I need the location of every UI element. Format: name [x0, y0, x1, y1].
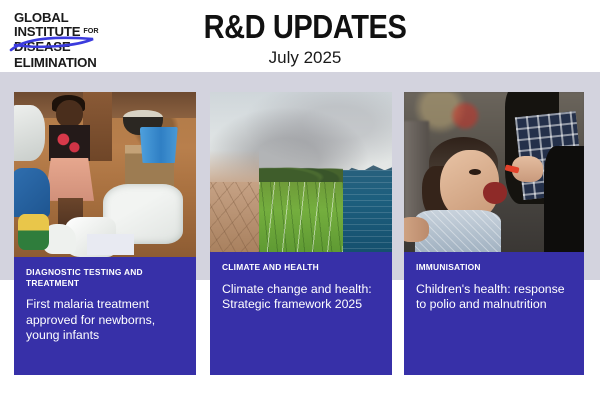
newsletter-slide: GLOBAL INSTITUTE FOR DISEASE ELIMINATION… — [0, 0, 600, 400]
card-grid: DIAGNOSTIC TESTING AND TREATMENT First m… — [0, 0, 600, 400]
story-headline[interactable]: First malaria treatment approved for new… — [26, 297, 184, 344]
story-headline[interactable]: Climate change and health: Strategic fra… — [222, 282, 380, 313]
story-card-climate-and-health[interactable]: CLIMATE AND HEALTH Climate change and he… — [210, 92, 392, 375]
story-card-immunisation[interactable]: IMMUNISATION Children's health: response… — [404, 92, 584, 375]
photo-blue-garment — [14, 168, 50, 218]
photo-blue-bucket — [140, 127, 178, 163]
story-headline[interactable]: Children's health: response to polio and… — [416, 282, 572, 313]
story-category-label: DIAGNOSTIC TESTING AND TREATMENT — [26, 267, 184, 288]
photo-white-cloth — [14, 105, 45, 161]
story-category-label: CLIMATE AND HEALTH — [222, 262, 380, 273]
story-card-diagnostic-testing[interactable]: DIAGNOSTIC TESTING AND TREATMENT First m… — [14, 92, 196, 375]
story-image-climate-triptych — [210, 92, 392, 252]
photo-child-skirt — [45, 158, 94, 201]
photo-drought-haze — [210, 150, 259, 185]
photo-supply-container — [18, 214, 49, 250]
photo-child-floral-top — [49, 125, 91, 161]
photo-child-open-mouth — [483, 182, 506, 204]
photo-ocean — [343, 170, 392, 252]
photo-child-arm — [404, 217, 429, 243]
photo-cracked-earth — [210, 182, 259, 252]
story-image-polio-vaccination — [404, 92, 584, 252]
story-text-block: IMMUNISATION Children's health: response… — [404, 252, 584, 375]
story-text-block: DIAGNOSTIC TESTING AND TREATMENT First m… — [14, 257, 196, 375]
photo-rice-paddy — [259, 182, 343, 252]
photo-black-garment — [544, 146, 584, 252]
story-image-malaria-treatment — [14, 92, 196, 257]
story-text-block: CLIMATE AND HEALTH Climate change and he… — [210, 252, 392, 375]
photo-paperwork — [87, 234, 134, 255]
story-category-label: IMMUNISATION — [416, 262, 572, 273]
